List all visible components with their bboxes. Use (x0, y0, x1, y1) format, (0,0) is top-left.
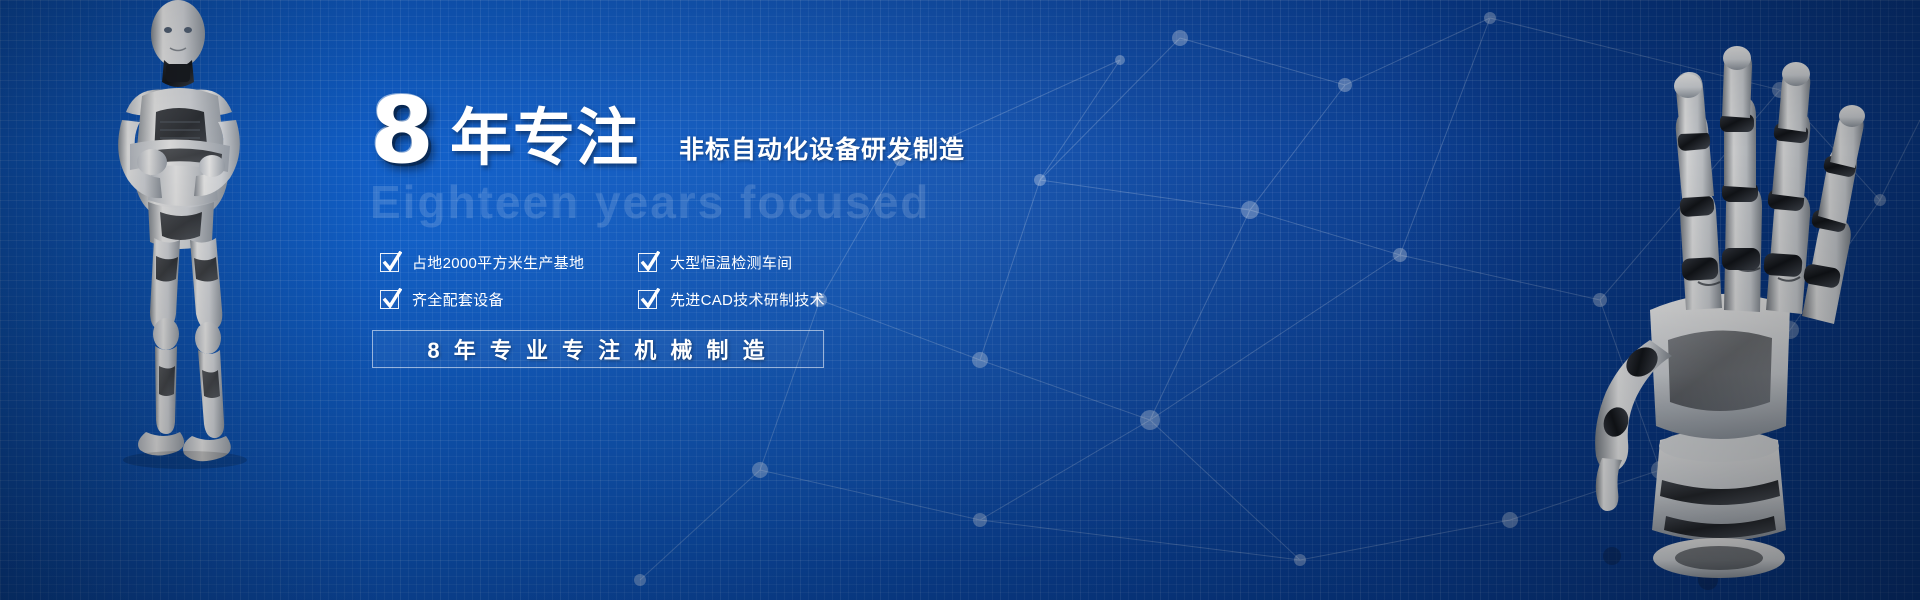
feature-list: 占地2000平方米生产基地 大型恒温检测车间 齐全配套设备 先进CAD技术研制技… (380, 252, 1130, 310)
headline-chinese: 年专注 (450, 108, 639, 170)
check-icon (380, 290, 399, 309)
slogan-text: 8 年 专 业 专 注 机 械 制 造 (427, 333, 768, 365)
headline-subtitle: 非标自动化设备研发制造 (679, 130, 965, 166)
humanoid-robot-figure (60, 0, 320, 594)
feature-label: 先进CAD技术研制技术 (670, 289, 825, 310)
feature-label: 占地2000平方米生产基地 (412, 252, 584, 273)
feature-item-2: 大型恒温检测车间 (638, 252, 896, 273)
feature-item-3: 齐全配套设备 (380, 289, 638, 310)
feature-label: 齐全配套设备 (412, 289, 504, 310)
slogan-box: 8 年 专 业 专 注 机 械 制 造 (372, 330, 824, 368)
check-icon (638, 253, 657, 272)
robotic-hand-figure (1510, 10, 1920, 600)
feature-label: 大型恒温检测车间 (670, 252, 792, 273)
feature-item-4: 先进CAD技术研制技术 (638, 289, 896, 310)
banner-content: 8 年专注 非标自动化设备研发制造 Eighteen years focused… (370, 88, 1130, 368)
headline-row: 8 年专注 非标自动化设备研发制造 (370, 88, 1130, 174)
headline-number: 8 (370, 89, 432, 174)
hero-banner: 8 年专注 非标自动化设备研发制造 Eighteen years focused… (0, 0, 1920, 600)
feature-item-1: 占地2000平方米生产基地 (380, 252, 638, 273)
check-icon (638, 290, 657, 309)
check-icon (380, 253, 399, 272)
headline-english: Eighteen years focused (370, 178, 1130, 226)
